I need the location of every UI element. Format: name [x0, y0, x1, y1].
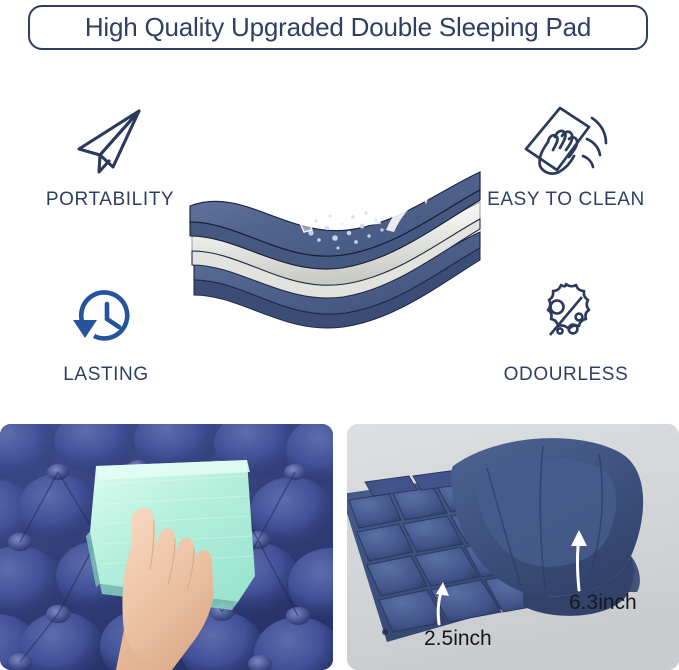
- paper-airplane-icon: [69, 103, 151, 181]
- scalloped-badge-dots-icon: [526, 278, 606, 356]
- photo-dimensions: 2.5inch 6.3inch: [347, 424, 679, 670]
- dimension-label-pillow-height: 6.3inch: [569, 591, 637, 615]
- dimension-label-thickness: 2.5inch: [424, 627, 492, 651]
- page-title-banner: High Quality Upgraded Double Sleeping Pa…: [28, 5, 648, 50]
- feature-label: PORTABILITY: [46, 189, 174, 211]
- feature-label: ODOURLESS: [504, 364, 629, 386]
- hand-wiping-cloth-icon: [514, 103, 618, 181]
- layered-fabric-illustration: [186, 120, 486, 350]
- feature-label: LASTING: [63, 364, 149, 386]
- photo-row: 2.5inch 6.3inch: [0, 424, 679, 670]
- photo-easy-clean: [0, 424, 333, 670]
- feature-label: EASY TO CLEAN: [487, 189, 645, 211]
- clock-rewind-icon: [67, 278, 145, 356]
- page-title: High Quality Upgraded Double Sleeping Pa…: [85, 12, 591, 43]
